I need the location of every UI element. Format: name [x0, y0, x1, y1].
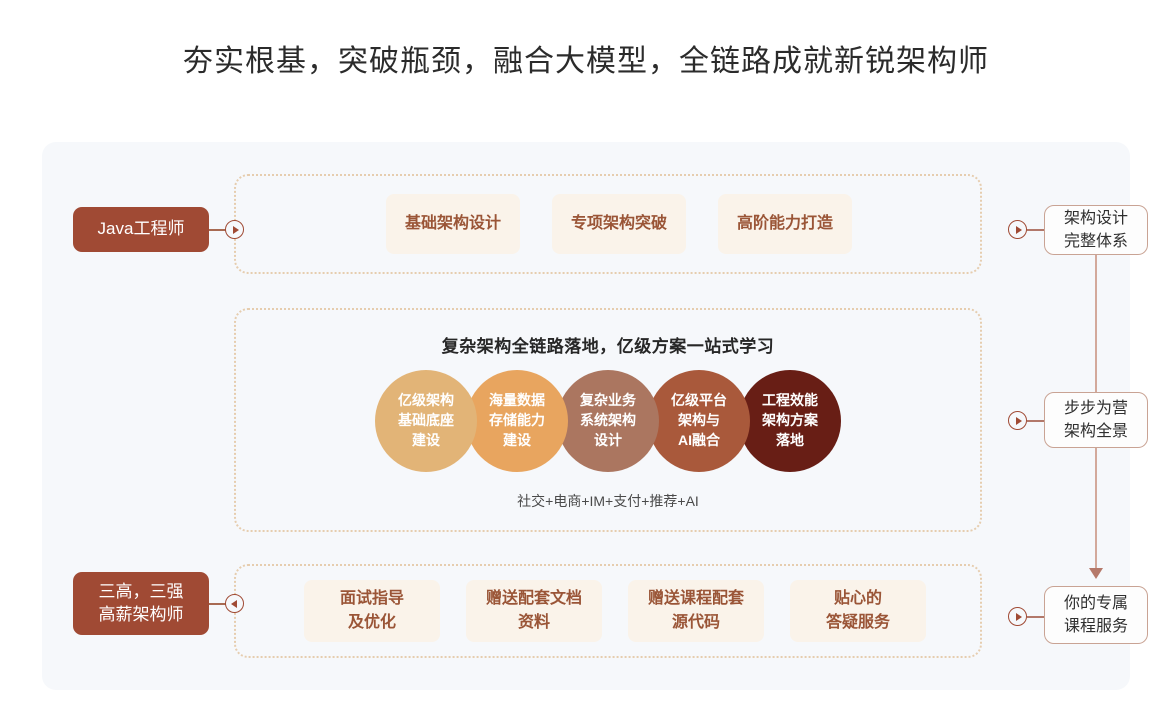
top-card-0-label: 基础架构设计 — [405, 212, 501, 236]
bubble-4-line1: 工程效能 — [762, 391, 818, 411]
bubble-2-line3: 设计 — [594, 431, 622, 451]
bubble-3-line1: 亿级平台 — [671, 391, 727, 411]
outcome-2-line2: 课程服务 — [1064, 615, 1128, 638]
bubble-4[interactable]: 工程效能 架构方案 落地 — [739, 370, 841, 472]
bubble-3-line2: 架构与 — [678, 411, 720, 431]
middle-heading: 复杂架构全链路落地，亿级方案一站式学习 — [234, 332, 982, 357]
role-badge-high-paid-architect[interactable]: 三高，三强 高薪架构师 — [73, 572, 209, 635]
top-card-2-label: 高阶能力打造 — [737, 212, 833, 236]
outcome-box-1[interactable]: 步步为营 架构全景 — [1044, 392, 1148, 448]
flow-line-upper — [1095, 255, 1097, 392]
page-title: 夯实根基，突破瓶颈，融合大模型，全链路成就新锐架构师 — [0, 36, 1172, 80]
bubble-1-line1: 海量数据 — [489, 391, 545, 411]
top-card-1[interactable]: 专项架构突破 — [552, 194, 686, 254]
triangle-glyph — [233, 226, 239, 234]
bottom-card-0-line1: 面试指导 — [340, 587, 404, 611]
role-badge-bottom-line2: 高薪架构师 — [99, 604, 184, 627]
outcome-2-line1: 你的专属 — [1064, 592, 1128, 615]
triangle-glyph — [1016, 226, 1022, 234]
play-left-icon — [225, 594, 244, 613]
outcome-0-line2: 完整体系 — [1064, 230, 1128, 253]
arrow-down-icon — [1089, 568, 1103, 579]
bottom-card-3[interactable]: 贴心的 答疑服务 — [790, 580, 926, 642]
outcome-1-line1: 步步为营 — [1064, 397, 1128, 420]
role-badge-top-label: Java工程师 — [98, 218, 185, 241]
bubble-0-line2: 基础底座 — [398, 411, 454, 431]
flow-line-lower — [1095, 448, 1097, 572]
bottom-card-0[interactable]: 面试指导 及优化 — [304, 580, 440, 642]
bubble-1-line2: 存储能力 — [489, 411, 545, 431]
bubble-1-line3: 建设 — [503, 431, 531, 451]
bottom-card-3-line2: 答疑服务 — [826, 611, 890, 635]
triangle-glyph — [1016, 417, 1022, 425]
top-card-0[interactable]: 基础架构设计 — [386, 194, 520, 254]
triangle-glyph — [1016, 613, 1022, 621]
bottom-card-1[interactable]: 赠送配套文档 资料 — [466, 580, 602, 642]
bubble-0[interactable]: 亿级架构 基础底座 建设 — [375, 370, 477, 472]
bubble-0-line1: 亿级架构 — [398, 391, 454, 411]
bubble-4-line2: 架构方案 — [762, 411, 818, 431]
bubble-4-line3: 落地 — [776, 431, 804, 451]
middle-caption: 社交+电商+IM+支付+推荐+AI — [234, 491, 982, 511]
bottom-card-0-line2: 及优化 — [348, 611, 396, 635]
bottom-card-3-line1: 贴心的 — [834, 587, 882, 611]
play-right-icon-outcome-1 — [1008, 220, 1027, 239]
bottom-card-2-line1: 赠送课程配套 — [648, 587, 744, 611]
diagram-board: Java工程师 三高，三强 高薪架构师 基础架构设计 专项架构突破 高阶能力打造… — [42, 142, 1130, 690]
role-badge-bottom-line1: 三高，三强 — [99, 581, 184, 604]
role-badge-java-engineer[interactable]: Java工程师 — [73, 207, 209, 252]
bubble-0-line3: 建设 — [412, 431, 440, 451]
play-right-icon-outcome-3 — [1008, 607, 1027, 626]
bubble-row: 亿级架构 基础底座 建设 海量数据 存储能力 建设 复杂业务 系统架构 设计 亿… — [234, 370, 982, 472]
play-right-icon — [225, 220, 244, 239]
bottom-card-2-line2: 源代码 — [672, 611, 720, 635]
outcome-box-0[interactable]: 架构设计 完整体系 — [1044, 205, 1148, 255]
top-card-1-label: 专项架构突破 — [571, 212, 667, 236]
top-card-2[interactable]: 高阶能力打造 — [718, 194, 852, 254]
bubble-2-line1: 复杂业务 — [580, 391, 636, 411]
triangle-glyph — [231, 600, 237, 608]
bubble-3-line3: AI融合 — [678, 431, 720, 451]
bubble-1[interactable]: 海量数据 存储能力 建设 — [466, 370, 568, 472]
bottom-card-2[interactable]: 赠送课程配套 源代码 — [628, 580, 764, 642]
play-right-icon-outcome-2 — [1008, 411, 1027, 430]
bubble-3[interactable]: 亿级平台 架构与 AI融合 — [648, 370, 750, 472]
outcome-0-line1: 架构设计 — [1064, 207, 1128, 230]
bottom-card-1-line2: 资料 — [518, 611, 550, 635]
outcome-1-line2: 架构全景 — [1064, 420, 1128, 443]
infographic-page: 夯实根基，突破瓶颈，融合大模型，全链路成就新锐架构师 Java工程师 三高，三强… — [0, 0, 1172, 713]
bubble-2[interactable]: 复杂业务 系统架构 设计 — [557, 370, 659, 472]
outcome-box-2[interactable]: 你的专属 课程服务 — [1044, 586, 1148, 644]
bubble-2-line2: 系统架构 — [580, 411, 636, 431]
bottom-card-1-line1: 赠送配套文档 — [486, 587, 582, 611]
